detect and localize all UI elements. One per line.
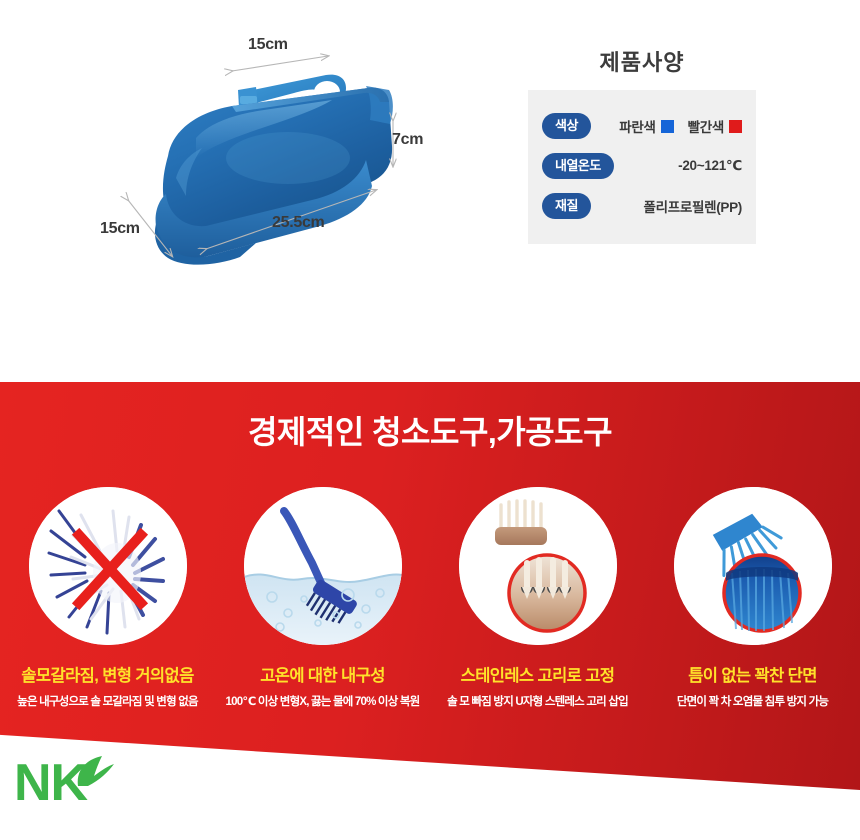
promo-banner: 경제적인 청소도구,가공도구 — [0, 382, 860, 790]
color-swatch-blue — [661, 120, 674, 133]
feature-subtitle-dense-section: 단면이 꽉 차 오염물 침투 방지 가능 — [677, 693, 828, 709]
feature-item-dense-section: 틈이 없는 꽉찬 단면 단면이 꽉 차 오염물 침투 방지 가능 — [645, 487, 860, 709]
nk-logo: NK — [14, 752, 144, 814]
feature-subtitle-staple-fixing: 솔 모 빠짐 방지 U자형 스텐레스 고리 삽입 — [447, 693, 628, 709]
brush-bristles-x-icon — [29, 487, 187, 645]
color-option-blue-label: 파란색 — [619, 116, 655, 136]
spec-value-color: 파란색 빨간색 — [591, 116, 742, 136]
dimension-label-length: 25.5cm — [272, 214, 324, 232]
dimension-label-depth: 15cm — [100, 220, 140, 238]
product-overview-section: 15cm 7cm 25.5cm 15cm 제품사양 색상 파란색 빨간색 내열온… — [0, 0, 860, 382]
feature-subtitle-heat-resistance: 100℃ 이상 변형X, 끓는 물에 70% 이상 복원 — [226, 693, 420, 709]
dimension-label-top-width: 15cm — [248, 36, 288, 54]
brush-staple-detail-icon — [459, 487, 617, 645]
spec-row-material: 재질 폴리프로필렌(PP) — [528, 186, 756, 226]
spec-label-heat-resistance: 내열온도 — [542, 153, 614, 180]
spec-label-material: 재질 — [542, 193, 591, 220]
product-figure: 15cm 7cm 25.5cm 15cm — [80, 28, 480, 273]
specification-block: 제품사양 색상 파란색 빨간색 내열온도 -20~121℃ 재질 폴리프로필렌(… — [528, 45, 756, 244]
feature-title-durability: 솔모갈라짐, 변형 거의없음 — [21, 662, 193, 686]
nk-logo-text: NK — [14, 754, 89, 812]
spec-row-heat-resistance: 내열온도 -20~121℃ — [528, 146, 756, 186]
dimension-label-height: 7cm — [392, 131, 423, 149]
feature-item-staple-fixing: 스테인레스 고리로 고정 솔 모 빠짐 방지 U자형 스텐레스 고리 삽입 — [430, 487, 645, 709]
spec-value-heat-resistance: -20~121℃ — [614, 158, 742, 174]
brush-dense-bristles-icon — [674, 487, 832, 645]
color-swatch-red — [729, 120, 742, 133]
feature-item-heat-resistance: 고온에 대한 내구성 100℃ 이상 변형X, 끓는 물에 70% 이상 복원 — [215, 487, 430, 709]
spec-value-material: 폴리프로필렌(PP) — [591, 196, 742, 216]
spec-label-color: 색상 — [542, 113, 591, 140]
feature-item-durability: 솔모갈라짐, 변형 거의없음 높은 내구성으로 솔 모갈라짐 및 변형 없음 — [0, 487, 215, 709]
feature-title-dense-section: 틈이 없는 꽉찬 단면 — [688, 662, 817, 686]
feature-subtitle-durability: 높은 내구성으로 솔 모갈라짐 및 변형 없음 — [17, 693, 198, 709]
spec-row-color: 색상 파란색 빨간색 — [528, 106, 756, 146]
color-option-red-label: 빨간색 — [688, 116, 724, 136]
feature-title-heat-resistance: 고온에 대한 내구성 — [260, 662, 385, 686]
dimension-arrows — [80, 28, 480, 273]
specification-table: 색상 파란색 빨간색 내열온도 -20~121℃ 재질 폴리프로필렌(PP) — [528, 90, 756, 244]
banner-heading: 경제적인 청소도구,가공도구 — [0, 407, 860, 453]
feature-title-staple-fixing: 스테인레스 고리로 고정 — [461, 662, 615, 686]
specification-title: 제품사양 — [528, 45, 756, 77]
brush-in-water-icon — [244, 487, 402, 645]
feature-list: 솔모갈라짐, 변형 거의없음 높은 내구성으로 솔 모갈라짐 및 변형 없음 — [0, 487, 860, 709]
